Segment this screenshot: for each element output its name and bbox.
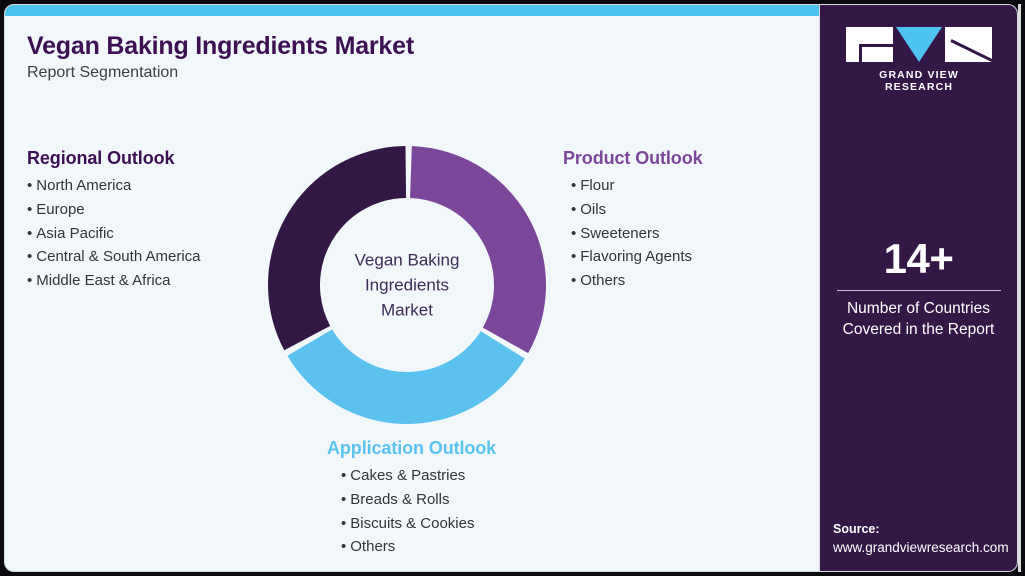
application-outlook-block: Application Outlook •Cakes & Pastries •B… bbox=[327, 438, 496, 559]
list-item: •Central & South America bbox=[27, 245, 201, 269]
list-item: •Europe bbox=[27, 198, 201, 222]
bullet-icon: • bbox=[341, 515, 346, 532]
list-item-label: Asia Pacific bbox=[36, 225, 114, 242]
list-item-label: Middle East & Africa bbox=[36, 272, 170, 289]
r-block-icon bbox=[945, 27, 992, 62]
g-block-icon bbox=[846, 27, 893, 62]
list-item: •Biscuits & Cookies bbox=[341, 512, 496, 536]
bullet-icon: • bbox=[27, 177, 32, 194]
bullet-icon: • bbox=[571, 201, 576, 218]
product-outlook-block: Product Outlook •Flour •Oils •Sweeteners… bbox=[563, 148, 703, 293]
regional-outlook-block: Regional Outlook •North America •Europe … bbox=[27, 148, 201, 293]
list-item: •Others bbox=[571, 269, 703, 293]
infographic-canvas: Vegan Baking Ingredients Market Report S… bbox=[0, 0, 1025, 576]
sidebar-panel: GRAND VIEW RESEARCH 14+ Number of Countr… bbox=[820, 4, 1018, 572]
list-item-label: Central & South America bbox=[36, 248, 200, 265]
brand-logo: GRAND VIEW RESEARCH bbox=[846, 27, 992, 93]
page-subtitle: Report Segmentation bbox=[27, 64, 178, 82]
stat-block: 14+ Number of Countries Covered in the R… bbox=[820, 237, 1017, 340]
bullet-icon: • bbox=[341, 538, 346, 555]
stat-value: 14+ bbox=[820, 237, 1017, 281]
list-item-label: Others bbox=[350, 538, 395, 555]
application-outlook-list: •Cakes & Pastries •Breads & Rolls •Biscu… bbox=[327, 464, 496, 559]
application-outlook-heading: Application Outlook bbox=[327, 438, 496, 459]
right-edge-strip bbox=[1018, 4, 1021, 572]
list-item-label: Sweeteners bbox=[580, 225, 659, 242]
bullet-icon: • bbox=[27, 248, 32, 265]
list-item: •Asia Pacific bbox=[27, 222, 201, 246]
donut-center-label: Vegan Baking Ingredients Market bbox=[322, 248, 492, 323]
list-item-label: Oils bbox=[580, 201, 606, 218]
list-item: •Others bbox=[341, 535, 496, 559]
donut-chart: Vegan Baking Ingredients Market bbox=[263, 141, 551, 429]
logo-marks bbox=[846, 27, 992, 62]
list-item: •Flavoring Agents bbox=[571, 245, 703, 269]
list-item-label: Biscuits & Cookies bbox=[350, 515, 474, 532]
bullet-icon: • bbox=[571, 177, 576, 194]
list-item: •Sweeteners bbox=[571, 222, 703, 246]
source-block: Source: www.grandviewresearch.com bbox=[833, 520, 1009, 557]
list-item-label: Europe bbox=[36, 201, 84, 218]
bullet-icon: • bbox=[571, 272, 576, 289]
accent-topbar bbox=[5, 5, 819, 16]
list-item: •Middle East & Africa bbox=[27, 269, 201, 293]
list-item: •Oils bbox=[571, 198, 703, 222]
bullet-icon: • bbox=[341, 467, 346, 484]
logo-wordmark: GRAND VIEW RESEARCH bbox=[846, 69, 992, 93]
bullet-icon: • bbox=[27, 201, 32, 218]
source-url[interactable]: www.grandviewresearch.com bbox=[833, 538, 1009, 557]
list-item: •North America bbox=[27, 174, 201, 198]
content-card: Vegan Baking Ingredients Market Report S… bbox=[4, 4, 820, 572]
list-item-label: Flavoring Agents bbox=[580, 248, 692, 265]
regional-outlook-heading: Regional Outlook bbox=[27, 148, 201, 169]
product-outlook-heading: Product Outlook bbox=[563, 148, 703, 169]
source-title: Source: bbox=[833, 520, 1009, 538]
bullet-icon: • bbox=[27, 272, 32, 289]
bullet-icon: • bbox=[571, 225, 576, 242]
donut-center-line-2: Ingredients bbox=[322, 273, 492, 298]
list-item: •Flour bbox=[571, 174, 703, 198]
stat-label-line-1: Number of Countries bbox=[820, 298, 1017, 319]
list-item-label: Flour bbox=[580, 177, 614, 194]
list-item: •Cakes & Pastries bbox=[341, 464, 496, 488]
list-item-label: Cakes & Pastries bbox=[350, 467, 465, 484]
bullet-icon: • bbox=[341, 491, 346, 508]
v-triangle-svg bbox=[896, 27, 942, 62]
regional-outlook-list: •North America •Europe •Asia Pacific •Ce… bbox=[27, 174, 201, 293]
stat-label-line-2: Covered in the Report bbox=[820, 319, 1017, 340]
page-title: Vegan Baking Ingredients Market bbox=[27, 32, 414, 61]
list-item-label: Others bbox=[580, 272, 625, 289]
bullet-icon: • bbox=[27, 225, 32, 242]
product-outlook-list: •Flour •Oils •Sweeteners •Flavoring Agen… bbox=[563, 174, 703, 293]
stat-label: Number of Countries Covered in the Repor… bbox=[820, 298, 1017, 340]
list-item-label: North America bbox=[36, 177, 131, 194]
bullet-icon: • bbox=[571, 248, 576, 265]
donut-center-line-3: Market bbox=[322, 298, 492, 323]
list-item: •Breads & Rolls bbox=[341, 488, 496, 512]
v-triangle-icon bbox=[896, 27, 942, 62]
stat-divider bbox=[837, 290, 1001, 291]
donut-center-line-1: Vegan Baking bbox=[322, 248, 492, 273]
list-item-label: Breads & Rolls bbox=[350, 491, 449, 508]
